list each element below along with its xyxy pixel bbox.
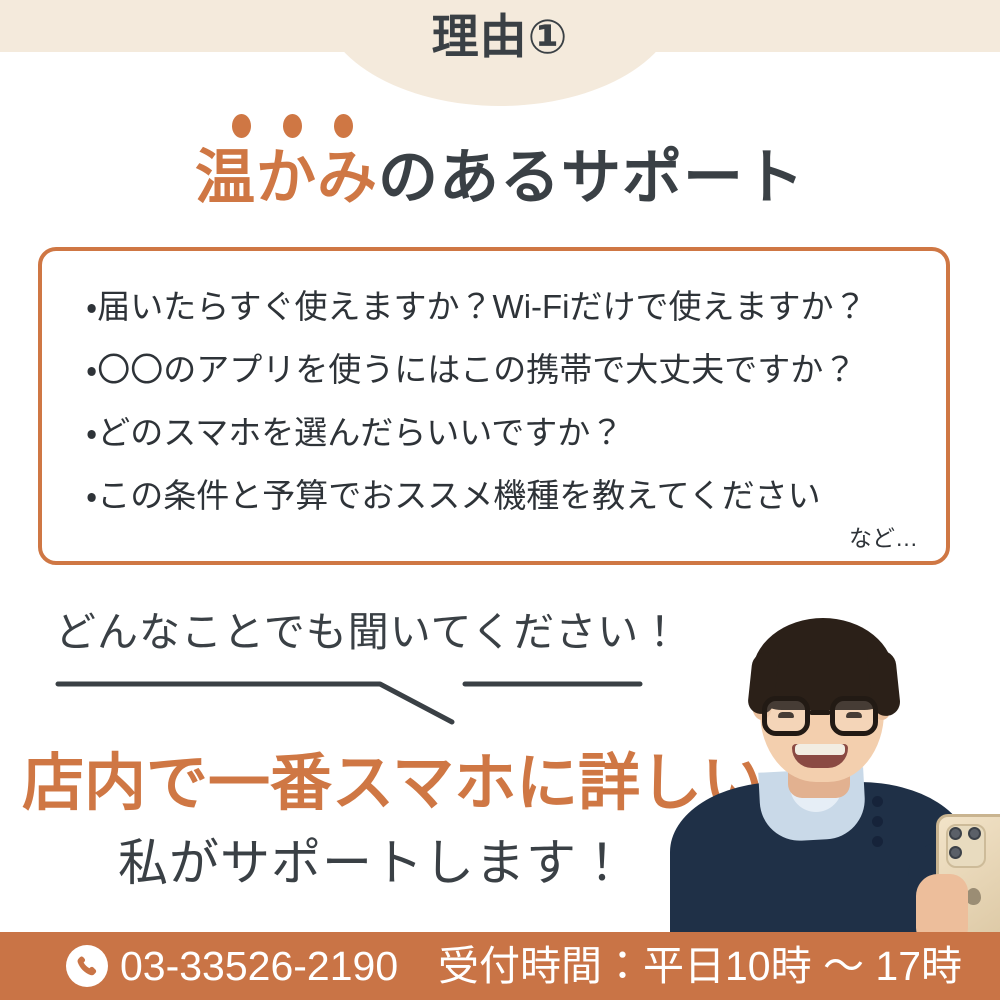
phone-number[interactable]: 03-33526-2190 xyxy=(120,941,398,991)
list-item: ・届いたらすぐ使えますか？Wi-Fiだけで使えますか？ xyxy=(86,275,926,338)
phone-camera-lens xyxy=(949,846,962,859)
staff-photo xyxy=(640,592,1000,940)
business-hours: 受付時間：平日10時 〜 17時 xyxy=(438,941,962,991)
phone-camera-lens xyxy=(968,827,981,840)
closing-sub-line: 私がサポートします！ xyxy=(118,830,628,896)
glasses-icon xyxy=(830,696,878,736)
emphasis-dot xyxy=(232,114,251,138)
phone-icon xyxy=(66,945,108,987)
glasses-bridge xyxy=(809,710,831,715)
photo-sweater-button xyxy=(872,816,883,827)
poster-root: 理由① 温かみのあるサポート ・届いたらすぐ使えますか？Wi-Fiだけで使えます… xyxy=(0,0,1000,1000)
list-item: ・この条件と予算でおススメ機種を教えてください xyxy=(86,464,926,527)
question-list: ・届いたらすぐ使えますか？Wi-Fiだけで使えますか？ ・〇〇のアプリを使うには… xyxy=(86,275,926,527)
photo-sweater-button xyxy=(872,796,883,807)
question-footnote: など… xyxy=(849,523,918,553)
emphasis-dots xyxy=(232,114,372,140)
invite-text: どんなことでも聞いてください！ xyxy=(55,603,681,661)
question-box: ・届いたらすぐ使えますか？Wi-Fiだけで使えますか？ ・〇〇のアプリを使うには… xyxy=(38,247,950,565)
phone-brand-logo xyxy=(966,888,981,905)
list-item: ・〇〇のアプリを使うにはこの携帯で大丈夫ですか？ xyxy=(86,338,926,401)
page-title: 理由① xyxy=(0,7,1000,67)
photo-teeth xyxy=(795,744,845,755)
photo-sweater-button xyxy=(872,836,883,847)
photo-hand xyxy=(916,874,968,940)
speech-underline-decoration xyxy=(40,666,680,728)
list-item: ・どのスマホを選んだらいいですか？ xyxy=(86,401,926,464)
hero-headline-accent: 温かみ xyxy=(195,144,378,211)
hero-headline: 温かみのあるサポート xyxy=(0,140,1000,216)
phone-camera-lens xyxy=(949,827,962,840)
glasses-icon xyxy=(762,696,810,736)
emphasis-dot xyxy=(283,114,302,138)
hero-headline-rest: のあるサポート xyxy=(378,144,805,211)
emphasis-dot xyxy=(334,114,353,138)
